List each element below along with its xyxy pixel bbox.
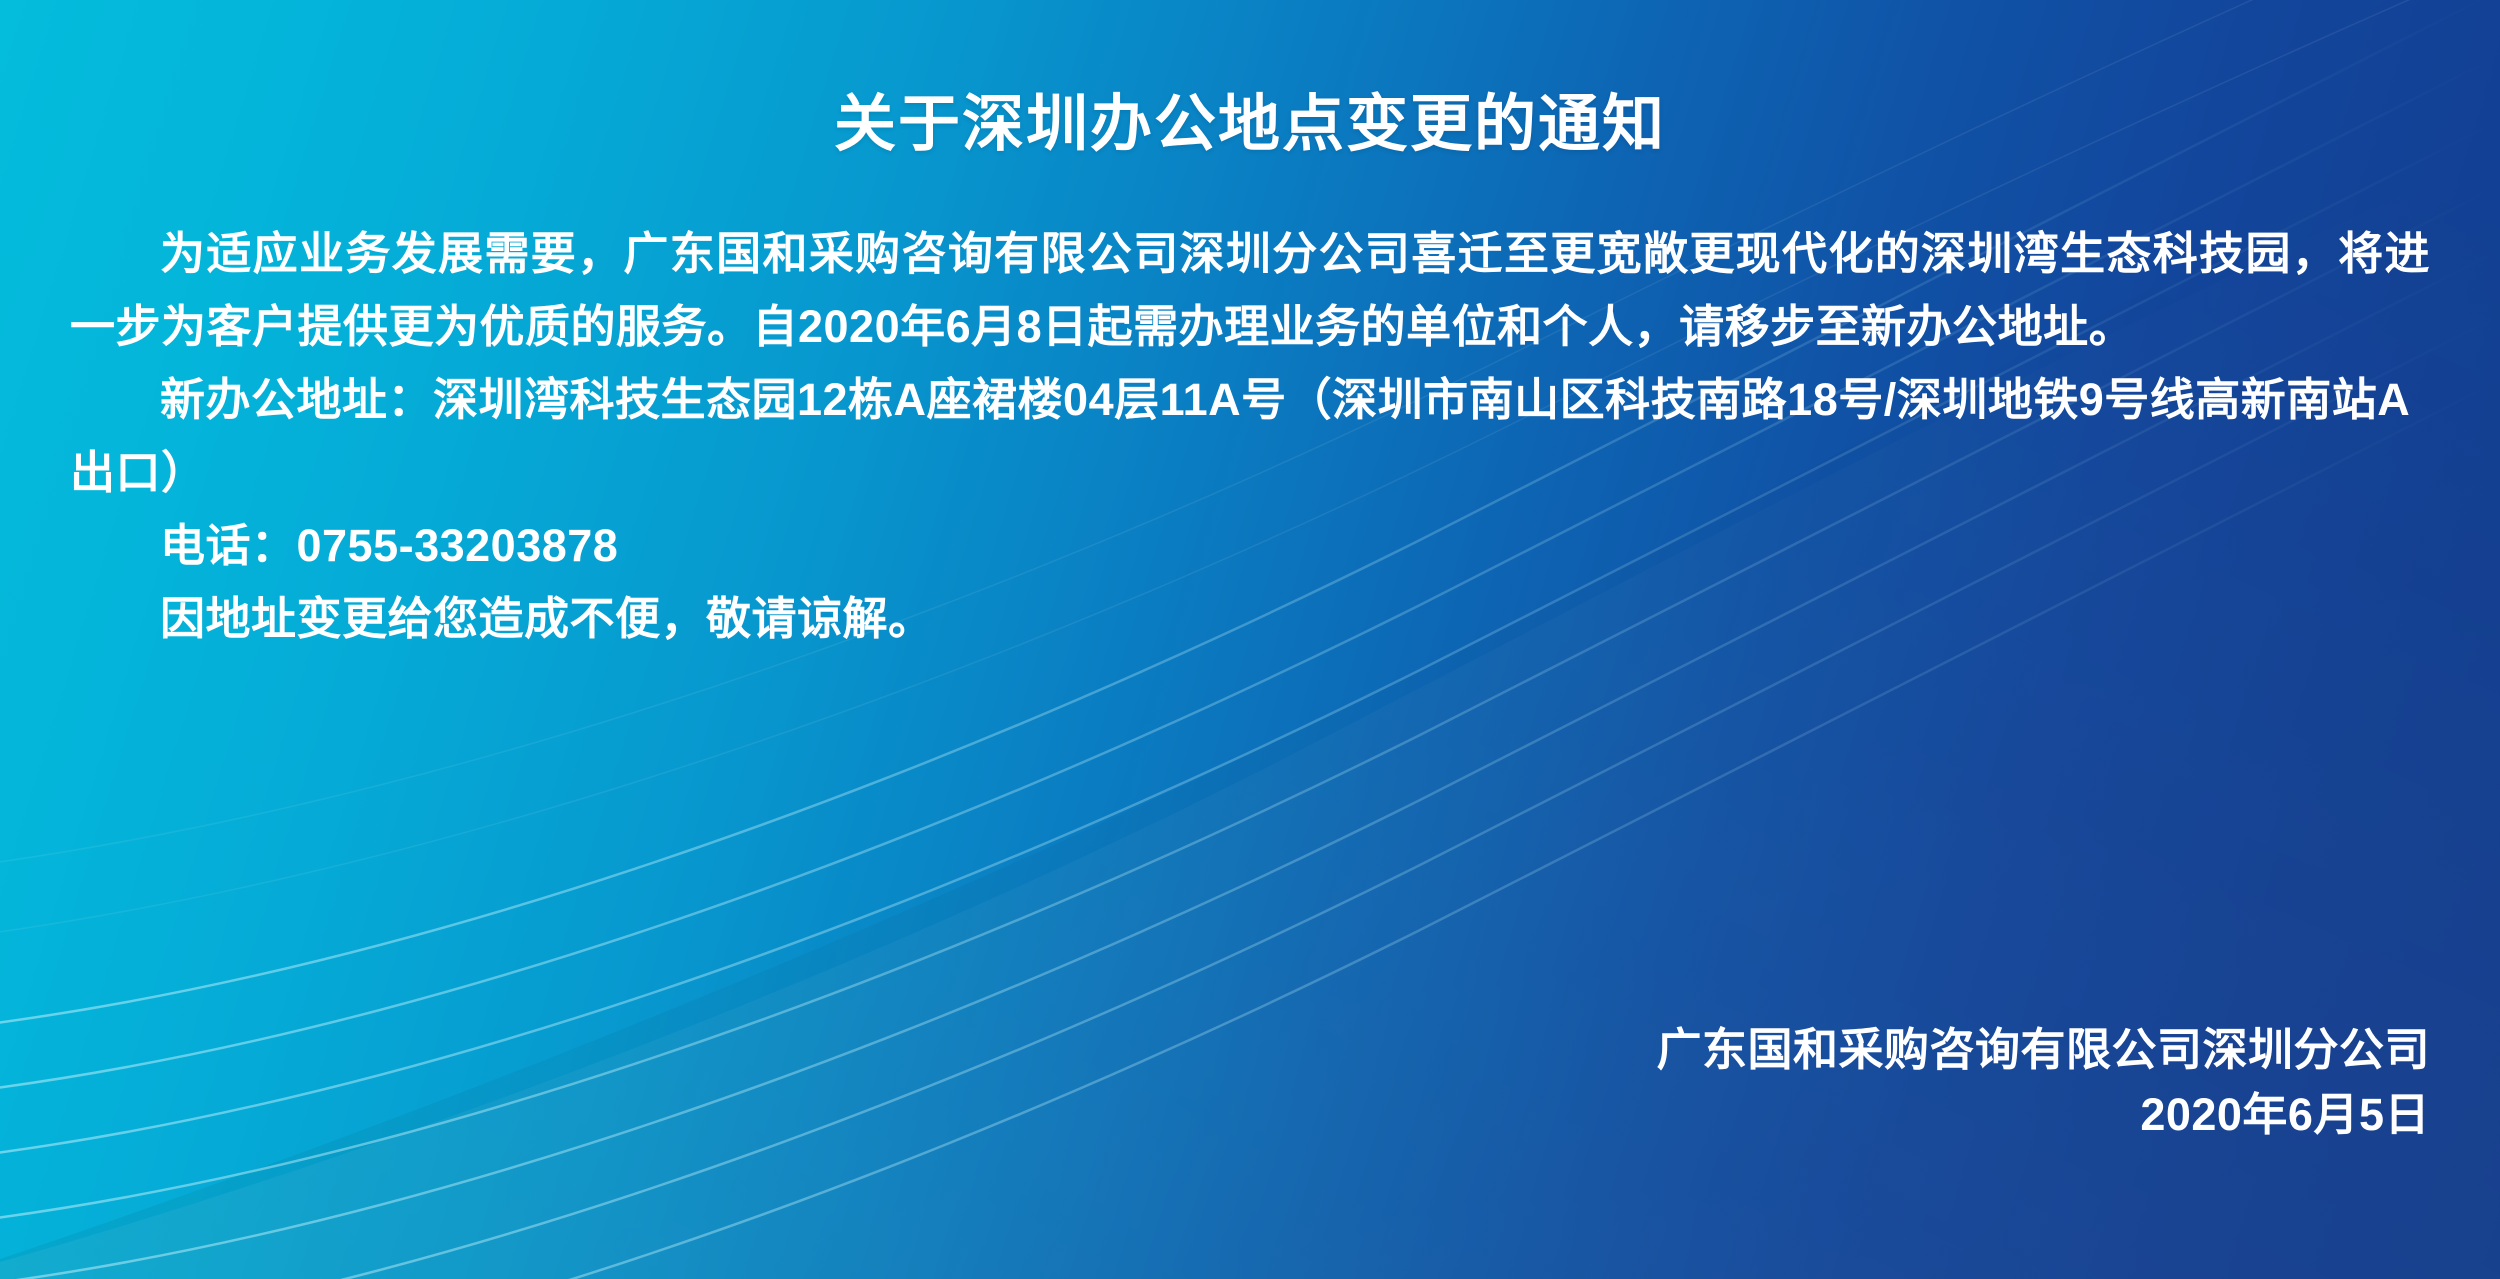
detail-lines: 新办公地址：深圳湾科技生态园12栋A座裙楼04层11A号（深圳市南山区科技南路1… [70, 364, 2430, 656]
new-address-line: 新办公地址：深圳湾科技生态园12栋A座裙楼04层11A号（深圳市南山区科技南路1… [70, 364, 2430, 510]
apology-line: 因地址变更给您造成不便，敬请谅解。 [70, 583, 2430, 656]
signature-date: 2020年6月5日 [1656, 1082, 2430, 1147]
notice-content: 关于深圳办公地点变更的通知 为适应业务发展需要，广东国和采购咨询有限公司深圳分公… [0, 0, 2500, 1279]
page-title: 关于深圳办公地点变更的通知 [70, 88, 2430, 162]
phone-line: 电话：0755-33203878 [70, 510, 2430, 583]
notice-body: 为适应业务发展需要，广东国和采购咨询有限公司深圳分公司喜迁至更宽敞更现代化的深圳… [70, 218, 2430, 655]
notice-banner: 关于深圳办公地点变更的通知 为适应业务发展需要，广东国和采购咨询有限公司深圳分公… [0, 0, 2500, 1279]
signature-block: 广东国和采购咨询有限公司深圳分公司 2020年6月5日 [1656, 1017, 2430, 1148]
signature-company: 广东国和采购咨询有限公司深圳分公司 [1656, 1017, 2430, 1082]
body-paragraph-intro: 为适应业务发展需要，广东国和采购咨询有限公司深圳分公司喜迁至更宽敞更现代化的深圳… [70, 218, 2430, 364]
